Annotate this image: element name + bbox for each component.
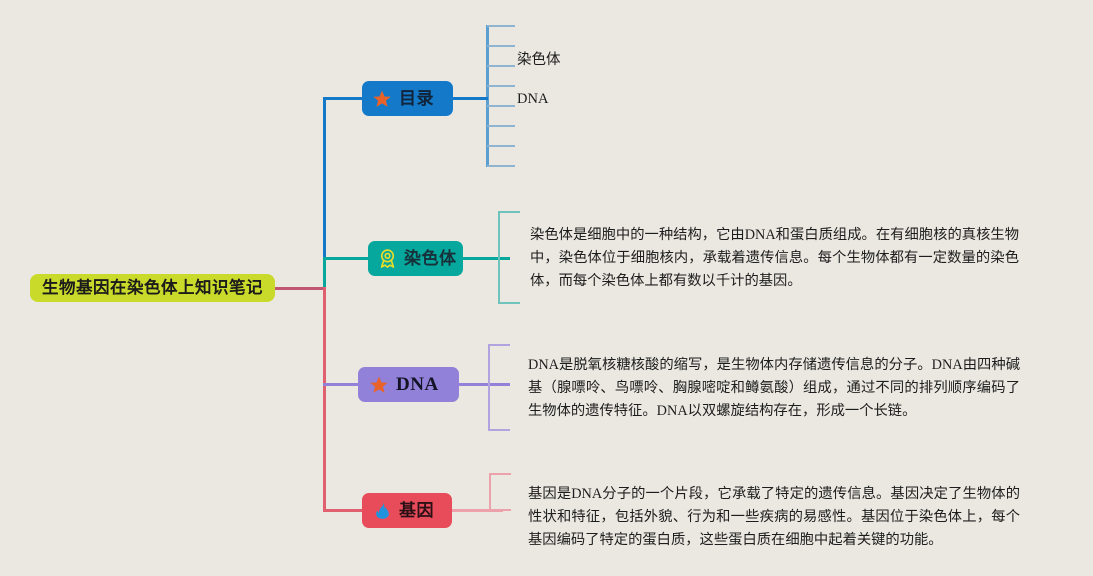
leaf-label-chromosome: 染色体 xyxy=(517,53,561,68)
paragraph-chromosome: 染色体是细胞中的一种结构，它由DNA和蛋白质组成。在有细胞核的真核生物中，染色体… xyxy=(530,224,1019,293)
branch-node-chromosome-label: 染色体 xyxy=(404,250,457,267)
subconnector-dna-tick xyxy=(488,344,510,346)
flame-icon xyxy=(371,500,393,522)
subconnector-chromosome-tick xyxy=(498,211,520,213)
connector-trunk-chromosome xyxy=(323,258,326,289)
connector-stub-toc xyxy=(323,97,365,100)
paragraph-gene: 基因是DNA分子的一个片段，它承载了特定的遗传信息。基因决定了生物体的性状和特征… xyxy=(528,483,1020,552)
branch-node-gene[interactable]: 基因 xyxy=(362,493,452,528)
branch-node-toc-label: 目录 xyxy=(399,90,434,107)
subconnector-toc-tick xyxy=(487,165,515,167)
medal-icon xyxy=(376,248,398,270)
subconnector-toc-tick xyxy=(487,125,515,127)
connector-dna-to-spine xyxy=(458,383,510,386)
subconnector-dna-tick xyxy=(488,429,510,431)
star-icon xyxy=(371,88,393,110)
subconnector-toc-tick xyxy=(487,65,515,67)
connector-chromosome-to-spine xyxy=(462,257,510,260)
mindmap-canvas: 生物基因在染色体上知识笔记 目录 染色体 DNA 基因 染 xyxy=(0,0,1093,576)
subconnector-dna-spine xyxy=(488,344,490,431)
connector-stub-chromosome xyxy=(323,257,371,260)
branch-node-dna-label: DNA xyxy=(396,375,439,394)
subconnector-toc-tick xyxy=(487,105,515,107)
branch-node-toc[interactable]: 目录 xyxy=(362,81,453,116)
subconnector-toc-tick xyxy=(487,145,515,147)
connector-stub-dna xyxy=(323,383,361,386)
branch-node-gene-label: 基因 xyxy=(399,502,434,519)
connector-trunk-toc xyxy=(323,97,326,260)
leaf-label-dna: DNA xyxy=(517,92,548,107)
root-node[interactable]: 生物基因在染色体上知识笔记 xyxy=(30,274,275,302)
connector-stub-gene xyxy=(323,509,365,512)
subconnector-toc-tick xyxy=(487,25,515,27)
branch-node-dna[interactable]: DNA xyxy=(358,367,459,402)
paragraph-dna: DNA是脱氧核糖核酸的缩写，是生物体内存储遗传信息的分子。DNA由四种碱基（腺嘌… xyxy=(528,354,1020,423)
branch-node-chromosome[interactable]: 染色体 xyxy=(368,241,463,276)
subconnector-toc-tick xyxy=(487,85,515,87)
connector-toc-to-spine xyxy=(452,97,488,100)
subconnector-gene-tick xyxy=(489,473,511,475)
subconnector-chromosome-spine xyxy=(498,211,500,304)
root-node-label: 生物基因在染色体上知识笔记 xyxy=(42,280,263,297)
connector-trunk-gene xyxy=(323,287,326,512)
subconnector-gene-tick xyxy=(489,509,511,511)
subconnector-toc-tick xyxy=(487,45,515,47)
subconnector-chromosome-tick xyxy=(498,302,520,304)
subconnector-gene-spine xyxy=(489,473,491,511)
star-icon xyxy=(368,374,390,396)
